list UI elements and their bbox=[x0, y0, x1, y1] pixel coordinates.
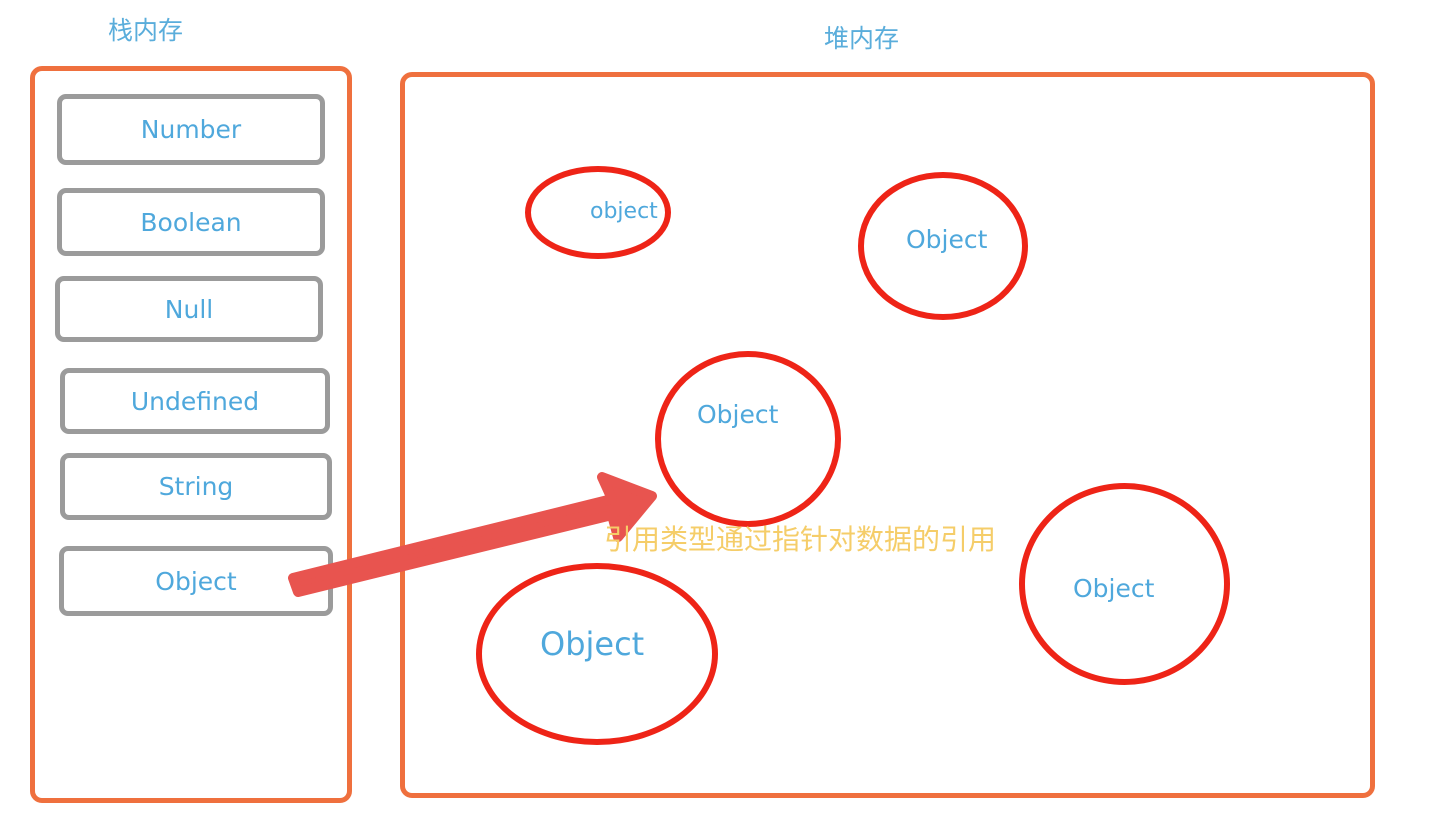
stack-slot-label: Object bbox=[155, 567, 236, 596]
stack-slot-label: Undefined bbox=[131, 387, 259, 416]
stack-slot-label: Number bbox=[141, 115, 241, 144]
heap-object-label: Object bbox=[906, 227, 987, 252]
heap-object-label: Object bbox=[1073, 576, 1154, 601]
stack-slot-boolean[interactable]: Boolean bbox=[57, 188, 325, 256]
heap-object-circle[interactable] bbox=[655, 351, 841, 527]
heap-object-label: object bbox=[590, 201, 658, 223]
stack-slot-label: Boolean bbox=[140, 208, 241, 237]
stack-slot-undefined[interactable]: Undefined bbox=[60, 368, 330, 434]
diagram-canvas: 栈内存 堆内存 NumberBooleanNullUndefinedString… bbox=[0, 0, 1432, 822]
stack-slot-string[interactable]: String bbox=[60, 453, 332, 520]
stack-memory-container bbox=[30, 66, 352, 803]
stack-slot-object[interactable]: Object bbox=[59, 546, 333, 616]
stack-slot-label: String bbox=[159, 472, 234, 501]
stack-slot-null[interactable]: Null bbox=[55, 276, 323, 342]
heap-object-label: Object bbox=[697, 402, 778, 427]
heap-object-label: Object bbox=[540, 628, 644, 660]
heap-memory-title: 堆内存 bbox=[824, 26, 899, 51]
pointer-annotation-label: 引用类型通过指针对数据的引用 bbox=[604, 526, 996, 554]
stack-slot-number[interactable]: Number bbox=[57, 94, 325, 165]
stack-slot-label: Null bbox=[165, 295, 213, 324]
stack-memory-title: 栈内存 bbox=[108, 18, 183, 43]
